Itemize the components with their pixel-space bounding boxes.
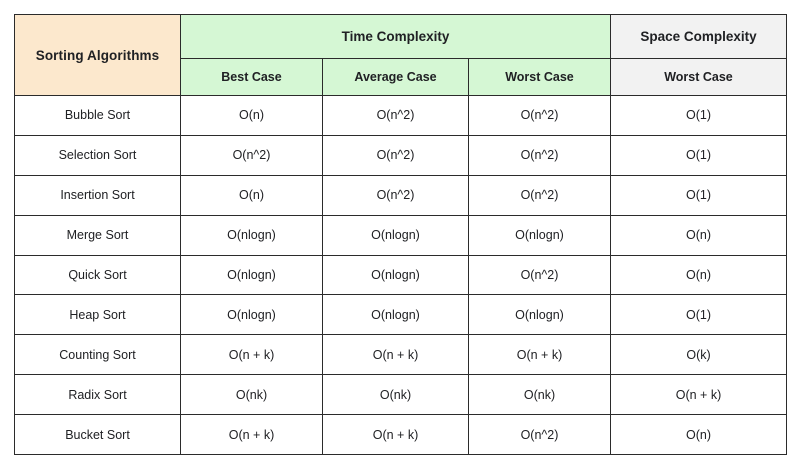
header-group-space-complexity: Space Complexity [611, 15, 787, 59]
cell-worst-case-time: O(n^2) [469, 415, 611, 455]
cell-best-case: O(nlogn) [181, 215, 323, 255]
table-row: Bubble Sort O(n) O(n^2) O(n^2) O(1) [15, 96, 787, 136]
table-row: Merge Sort O(nlogn) O(nlogn) O(nlogn) O(… [15, 215, 787, 255]
cell-average-case: O(nlogn) [323, 215, 469, 255]
cell-algorithm: Heap Sort [15, 295, 181, 335]
cell-average-case: O(n^2) [323, 135, 469, 175]
cell-average-case: O(nk) [323, 375, 469, 415]
cell-best-case: O(n + k) [181, 335, 323, 375]
cell-worst-case-time: O(n^2) [469, 135, 611, 175]
cell-algorithm: Quick Sort [15, 255, 181, 295]
header-worst-case-time: Worst Case [469, 59, 611, 96]
table-row: Radix Sort O(nk) O(nk) O(nk) O(n + k) [15, 375, 787, 415]
table-row: Quick Sort O(nlogn) O(nlogn) O(n^2) O(n) [15, 255, 787, 295]
table-row: Heap Sort O(nlogn) O(nlogn) O(nlogn) O(1… [15, 295, 787, 335]
cell-worst-case-space: O(1) [611, 175, 787, 215]
table-row: Counting Sort O(n + k) O(n + k) O(n + k)… [15, 335, 787, 375]
cell-best-case: O(nk) [181, 375, 323, 415]
cell-best-case: O(n) [181, 96, 323, 136]
cell-worst-case-time: O(n^2) [469, 96, 611, 136]
cell-average-case: O(nlogn) [323, 255, 469, 295]
cell-average-case: O(n^2) [323, 175, 469, 215]
cell-average-case: O(n + k) [323, 415, 469, 455]
cell-worst-case-time: O(n^2) [469, 175, 611, 215]
cell-best-case: O(nlogn) [181, 255, 323, 295]
cell-average-case: O(n + k) [323, 335, 469, 375]
cell-best-case: O(n) [181, 175, 323, 215]
cell-worst-case-space: O(k) [611, 335, 787, 375]
cell-best-case: O(n^2) [181, 135, 323, 175]
complexity-table-wrapper: Sorting Algorithms Time Complexity Space… [14, 14, 786, 455]
cell-algorithm: Bubble Sort [15, 96, 181, 136]
header-worst-case-space: Worst Case [611, 59, 787, 96]
page-root: Sorting Algorithms Time Complexity Space… [0, 0, 800, 450]
header-best-case: Best Case [181, 59, 323, 96]
cell-algorithm: Bucket Sort [15, 415, 181, 455]
cell-algorithm: Radix Sort [15, 375, 181, 415]
cell-algorithm: Merge Sort [15, 215, 181, 255]
cell-worst-case-time: O(nk) [469, 375, 611, 415]
cell-worst-case-space: O(n) [611, 415, 787, 455]
table-body: Bubble Sort O(n) O(n^2) O(n^2) O(1) Sele… [15, 96, 787, 455]
table-row: Selection Sort O(n^2) O(n^2) O(n^2) O(1) [15, 135, 787, 175]
cell-worst-case-time: O(n + k) [469, 335, 611, 375]
cell-worst-case-space: O(n) [611, 255, 787, 295]
cell-worst-case-space: O(n + k) [611, 375, 787, 415]
cell-worst-case-time: O(n^2) [469, 255, 611, 295]
header-row-groups: Sorting Algorithms Time Complexity Space… [15, 15, 787, 59]
cell-worst-case-space: O(n) [611, 215, 787, 255]
cell-worst-case-time: O(nlogn) [469, 215, 611, 255]
header-group-time-complexity: Time Complexity [181, 15, 611, 59]
table-row: Bucket Sort O(n + k) O(n + k) O(n^2) O(n… [15, 415, 787, 455]
header-sorting-algorithms: Sorting Algorithms [15, 15, 181, 96]
cell-best-case: O(nlogn) [181, 295, 323, 335]
sorting-algorithm-complexity-table: Sorting Algorithms Time Complexity Space… [14, 14, 787, 455]
cell-worst-case-time: O(nlogn) [469, 295, 611, 335]
header-average-case: Average Case [323, 59, 469, 96]
table-row: Insertion Sort O(n) O(n^2) O(n^2) O(1) [15, 175, 787, 215]
cell-best-case: O(n + k) [181, 415, 323, 455]
cell-algorithm: Selection Sort [15, 135, 181, 175]
cell-algorithm: Counting Sort [15, 335, 181, 375]
cell-average-case: O(nlogn) [323, 295, 469, 335]
cell-worst-case-space: O(1) [611, 135, 787, 175]
cell-average-case: O(n^2) [323, 96, 469, 136]
cell-algorithm: Insertion Sort [15, 175, 181, 215]
cell-worst-case-space: O(1) [611, 295, 787, 335]
table-header: Sorting Algorithms Time Complexity Space… [15, 15, 787, 96]
cell-worst-case-space: O(1) [611, 96, 787, 136]
